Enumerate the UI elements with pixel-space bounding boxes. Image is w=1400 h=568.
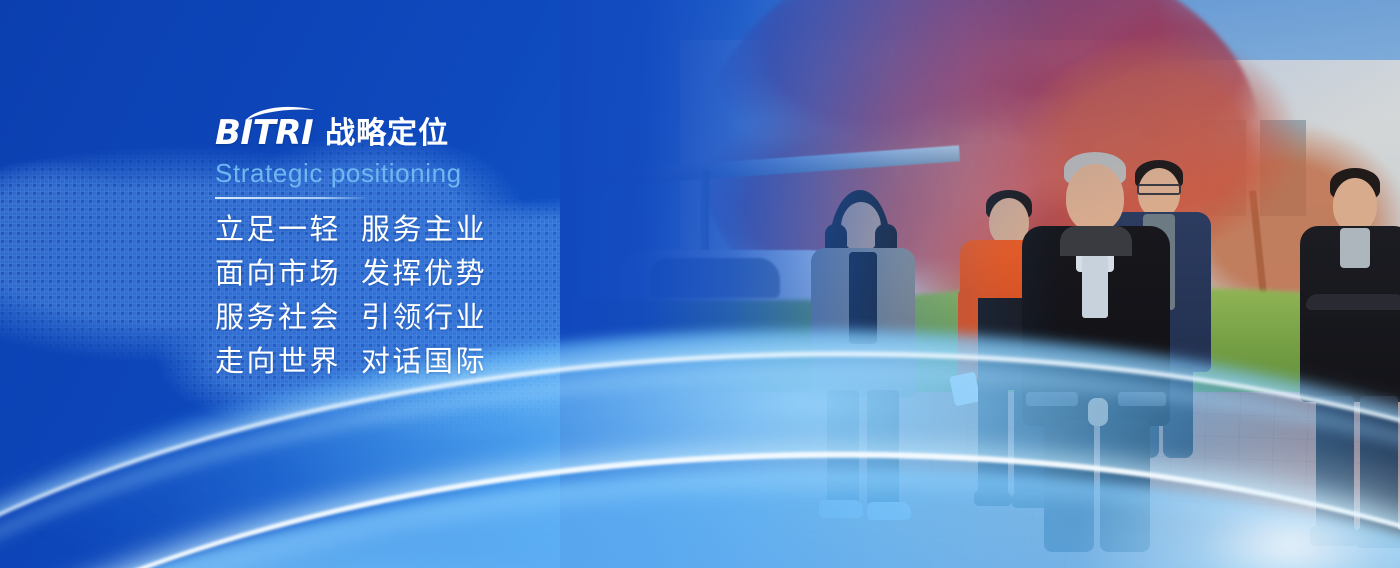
banner-title-cn: 战略定位 [325,119,449,150]
slogan-left: 服务社会 [215,303,361,332]
slogan-right: 发挥优势 [361,259,487,288]
slogan-right: 对话国际 [361,347,487,376]
banner-subtitle-en: Strategic positioning [215,159,735,188]
strategic-positioning-banner: BITRI 战略定位 Strategic positioning 立足一轻 服务… [0,0,1400,568]
slogan-left: 面向市场 [215,259,361,288]
slogan-left: 走向世界 [215,347,361,376]
slogan-line: 立足一轻 服务主业 [215,215,735,244]
slogan-line: 面向市场 发挥优势 [215,259,735,288]
slogan-list: 立足一轻 服务主业 面向市场 发挥优势 服务社会 引领行业 走向世界 对话国际 [215,215,735,376]
slogan-left: 立足一轻 [215,215,361,244]
banner-text-block: BITRI 战略定位 Strategic positioning 立足一轻 服务… [215,104,735,376]
slogan-right: 服务主业 [361,215,487,244]
slogan-right: 引领行业 [361,303,487,332]
slogan-line: 服务社会 引领行业 [215,303,735,332]
slogan-line: 走向世界 对话国际 [215,347,735,376]
title-divider [215,197,370,199]
bitri-wordmark: BITRI [215,116,313,150]
bitri-wordmark-text: BITRI [215,113,313,153]
logo-row: BITRI 战略定位 [215,104,735,150]
